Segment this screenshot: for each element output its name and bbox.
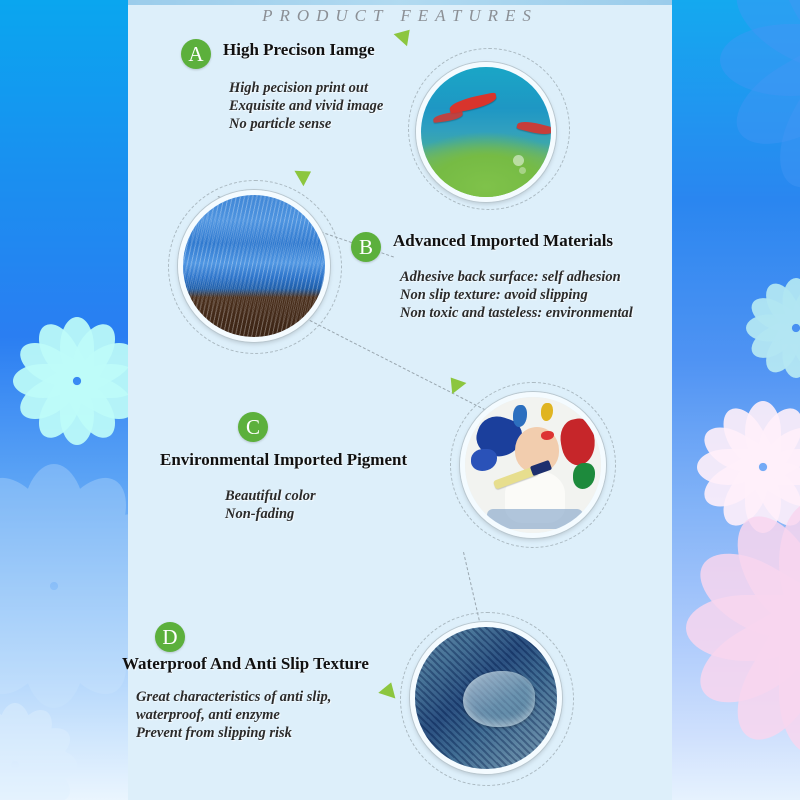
bullet-line: waterproof, anti enzyme: [136, 706, 331, 724]
paint-splatter: [557, 416, 600, 468]
paint-splatter: [513, 405, 527, 427]
floor-paint: [487, 509, 583, 529]
connector-c-to-d: [463, 552, 480, 620]
left-decorative-band: [0, 0, 128, 800]
heading-a: High Precison Iamge: [223, 40, 375, 60]
painting-baby-photo: [460, 392, 606, 538]
content-panel: PRODUCT FEATURES A High Precison Iamge H…: [128, 0, 672, 800]
bottom-flower-ornament: [0, 690, 90, 800]
koi-pond-photo: [416, 62, 556, 202]
bullets-b: Adhesive back surface: self adhesion Non…: [400, 268, 633, 322]
pink-flower-ornament: [672, 478, 800, 778]
badge-b: B: [351, 232, 381, 262]
water-drop-texture-photo: [410, 622, 562, 774]
bullet-line: High pecision print out: [229, 79, 383, 97]
bullets-c: Beautiful color Non-fading: [225, 487, 316, 523]
koi-fish: [433, 111, 464, 123]
bullets-a: High pecision print out Exquisite and vi…: [229, 79, 383, 133]
bullet-line: Non-fading: [225, 505, 316, 523]
paint-splatter: [471, 449, 497, 471]
heading-b: Advanced Imported Materials: [393, 231, 613, 251]
water-sparkle: [513, 155, 524, 166]
right-decorative-band: [672, 0, 800, 800]
koi-fish: [448, 92, 497, 114]
panel-top-divider: [128, 0, 672, 5]
badge-c: C: [238, 412, 268, 442]
flow-arrow-to-d: [378, 680, 399, 699]
paint-splatter: [541, 403, 553, 421]
paint-splatter: [573, 463, 595, 489]
heading-c: Environmental Imported Pigment: [160, 450, 407, 470]
bullets-d: Great characteristics of anti slip, wate…: [136, 688, 331, 742]
koi-fish: [516, 119, 553, 137]
badge-a: A: [181, 39, 211, 69]
bullet-line: Exquisite and vivid image: [229, 97, 383, 115]
flow-arrow-to-b: [294, 164, 315, 187]
heading-d: Waterproof And Anti Slip Texture: [122, 654, 369, 674]
bullet-line: Non toxic and tasteless: environmental: [400, 304, 633, 322]
bullet-line: Great characteristics of anti slip,: [136, 688, 331, 706]
bullet-line: Adhesive back surface: self adhesion: [400, 268, 633, 286]
product-features-infographic: PRODUCT FEATURES A High Precison Iamge H…: [0, 0, 800, 800]
flow-arrow-to-a: [394, 24, 417, 46]
large-blue-flower-ornament: [694, 0, 800, 230]
water-sparkle: [519, 167, 526, 174]
page-title: PRODUCT FEATURES: [128, 6, 672, 26]
badge-d: D: [155, 622, 185, 652]
bullet-line: Non slip texture: avoid slipping: [400, 286, 633, 304]
mint-flower-ornament: [736, 268, 800, 388]
water-droplet: [463, 671, 535, 727]
bullet-line: No particle sense: [229, 115, 383, 133]
bullet-line: Beautiful color: [225, 487, 316, 505]
bullet-line: Prevent from slipping risk: [136, 724, 331, 742]
blue-fabric-photo: [178, 190, 330, 342]
